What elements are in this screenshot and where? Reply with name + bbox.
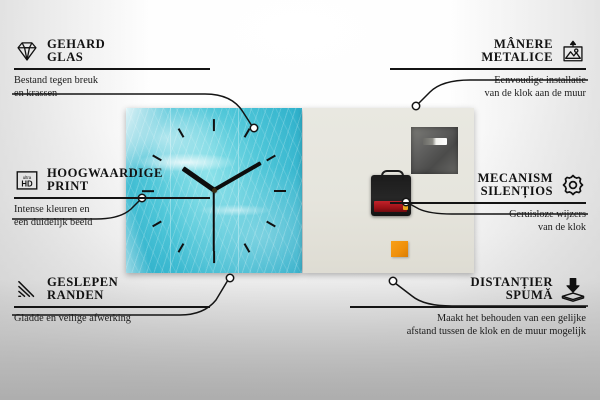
callout-header: GEHARD GLAS — [14, 38, 224, 64]
callout-rule — [14, 68, 210, 70]
callout-header: MECANISM SILENȚIOS — [376, 172, 586, 198]
wall-frame-icon — [560, 38, 586, 64]
callout-rule — [390, 202, 586, 204]
callout-hd-print[interactable]: ultra HD HOOGWAARDIGE PRINT Intense kleu… — [14, 167, 224, 229]
callout-title: GESLEPEN RANDEN — [47, 276, 118, 302]
callout-title: MECANISM SILENȚIOS — [478, 172, 553, 198]
svg-text:HD: HD — [21, 180, 33, 189]
clock-tick — [213, 251, 215, 263]
foam-spacer-part — [391, 241, 408, 257]
polished-edges-icon — [14, 276, 40, 302]
callout-tempered-glass[interactable]: GEHARD GLAS Bestand tegen breuk en krass… — [14, 38, 224, 100]
callout-title: GEHARD GLAS — [47, 38, 105, 64]
diamond-icon — [14, 38, 40, 64]
leader-endpoint — [226, 274, 233, 281]
callout-polished-edges[interactable]: GESLEPEN RANDEN Gladde en veilige afwerk… — [14, 276, 224, 325]
callout-header: DISTANȚIER SPUMĂ — [336, 276, 586, 302]
clock-tick — [274, 190, 286, 192]
callout-rule — [14, 197, 210, 199]
callout-header: ultra HD HOOGWAARDIGE PRINT — [14, 167, 224, 193]
ultra-hd-icon: ultra HD — [14, 167, 40, 193]
infographic-canvas: GEHARD GLAS Bestand tegen breuk en krass… — [0, 0, 600, 400]
callout-metal-handles[interactable]: MÂNERE METALICE Eenvoudige installatie v… — [376, 38, 586, 100]
callout-title: HOOGWAARDIGE PRINT — [47, 167, 163, 193]
callout-title: DISTANȚIER SPUMĂ — [471, 276, 553, 302]
callout-rule — [350, 306, 586, 308]
gear-icon — [560, 172, 586, 198]
callout-rule — [14, 306, 210, 308]
callout-header: MÂNERE METALICE — [376, 38, 586, 64]
callout-foam-spacer[interactable]: DISTANȚIER SPUMĂ Maakt het behouden van … — [336, 276, 586, 338]
panel-seam — [238, 108, 239, 273]
callout-silent-mechanism[interactable]: MECANISM SILENȚIOS Geruisloze wijzers va… — [376, 172, 586, 234]
callout-rule — [390, 68, 586, 70]
callout-header: GESLEPEN RANDEN — [14, 276, 224, 302]
metal-hanger-plate-icon — [411, 127, 458, 174]
press-down-icon — [560, 276, 586, 302]
callout-title: MÂNERE METALICE — [481, 38, 553, 64]
hanger-keyhole-slot — [423, 138, 447, 145]
clock-tick — [213, 119, 215, 131]
